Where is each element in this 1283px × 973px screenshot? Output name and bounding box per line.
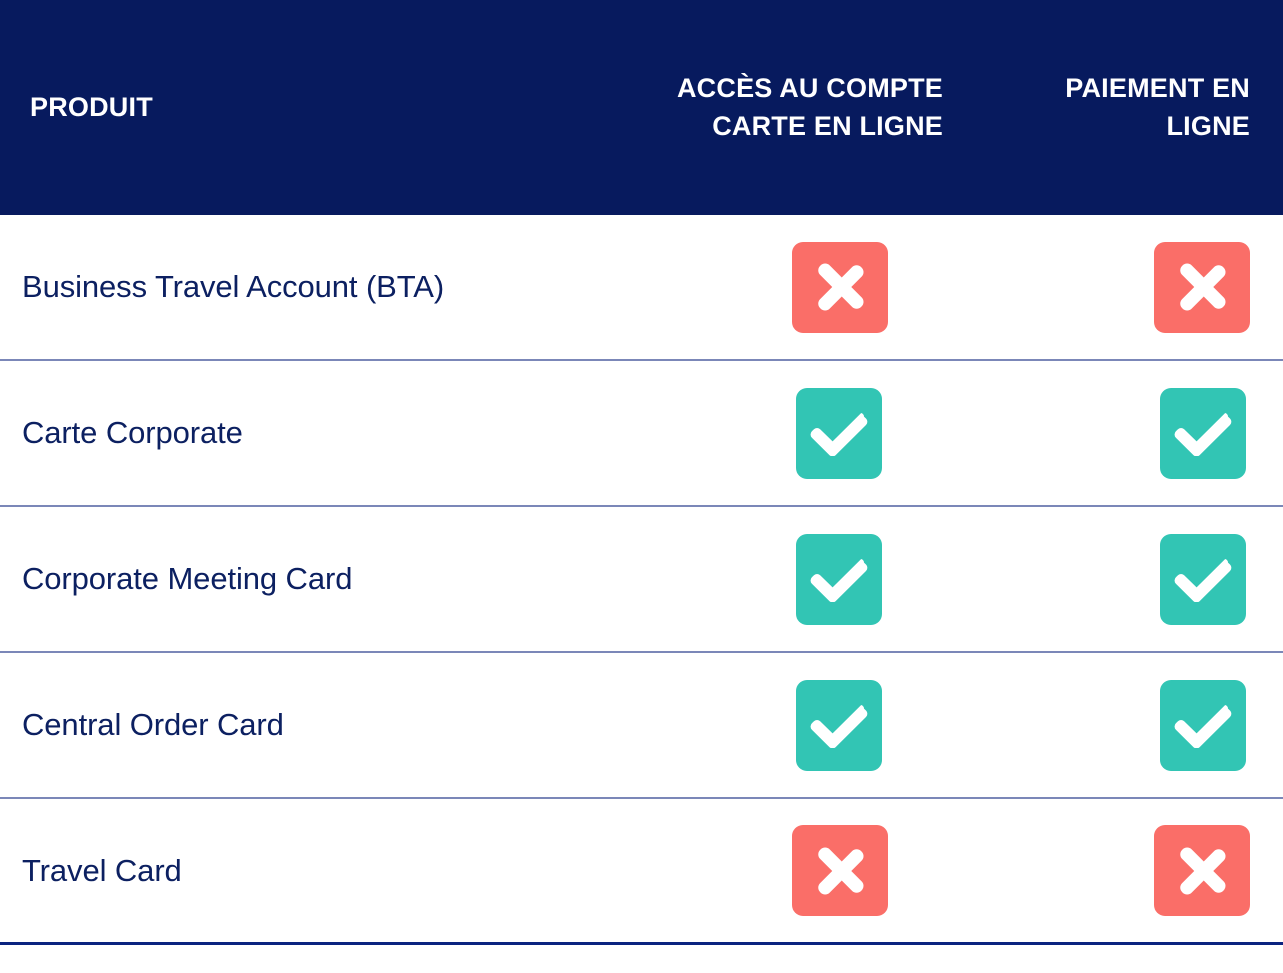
cell-online-card-account-access: [600, 825, 980, 916]
check-icon: [1160, 680, 1246, 771]
column-header-online-payment: PAIEMENT EN LIGNE: [980, 70, 1283, 145]
cell-product-name: Central Order Card: [0, 706, 600, 743]
column-header-online-card-account-access-label: ACCÈS AU COMPTE CARTE EN LIGNE: [600, 70, 943, 145]
table-row: Travel Card: [0, 799, 1283, 945]
cross-icon: [1154, 825, 1250, 916]
cell-product-name: Business Travel Account (BTA): [0, 268, 600, 305]
cell-online-card-account-access: [600, 534, 980, 625]
cell-online-card-account-access: [600, 680, 980, 771]
product-name-label: Travel Card: [22, 852, 600, 889]
cell-product-name: Carte Corporate: [0, 414, 600, 451]
check-icon: [796, 680, 882, 771]
cell-online-payment: [980, 680, 1283, 771]
product-name-label: Central Order Card: [22, 706, 600, 743]
cell-online-card-account-access: [600, 242, 980, 333]
cross-icon: [792, 242, 888, 333]
cross-icon: [792, 825, 888, 916]
check-icon: [796, 534, 882, 625]
table-row: Corporate Meeting Card: [0, 507, 1283, 653]
column-header-online-payment-label: PAIEMENT EN LIGNE: [980, 70, 1250, 145]
cell-product-name: Corporate Meeting Card: [0, 560, 600, 597]
cross-icon: [1154, 242, 1250, 333]
product-feature-comparison-table: PRODUIT ACCÈS AU COMPTE CARTE EN LIGNE P…: [0, 0, 1283, 973]
table-row: Business Travel Account (BTA): [0, 215, 1283, 361]
table-row: Carte Corporate: [0, 361, 1283, 507]
cell-online-payment: [980, 534, 1283, 625]
cell-online-payment: [980, 242, 1283, 333]
cell-online-card-account-access: [600, 388, 980, 479]
product-name-label: Carte Corporate: [22, 414, 600, 451]
column-header-online-card-account-access: ACCÈS AU COMPTE CARTE EN LIGNE: [600, 70, 980, 145]
cell-online-payment: [980, 825, 1283, 916]
check-icon: [796, 388, 882, 479]
table-header-row: PRODUIT ACCÈS AU COMPTE CARTE EN LIGNE P…: [0, 0, 1283, 215]
table-body: Business Travel Account (BTA)Carte Corpo…: [0, 215, 1283, 945]
cell-online-payment: [980, 388, 1283, 479]
table-row: Central Order Card: [0, 653, 1283, 799]
column-header-product: PRODUIT: [0, 89, 600, 126]
product-name-label: Business Travel Account (BTA): [22, 268, 600, 305]
check-icon: [1160, 388, 1246, 479]
product-name-label: Corporate Meeting Card: [22, 560, 600, 597]
check-icon: [1160, 534, 1246, 625]
column-header-product-label: PRODUIT: [30, 89, 600, 126]
cell-product-name: Travel Card: [0, 852, 600, 889]
